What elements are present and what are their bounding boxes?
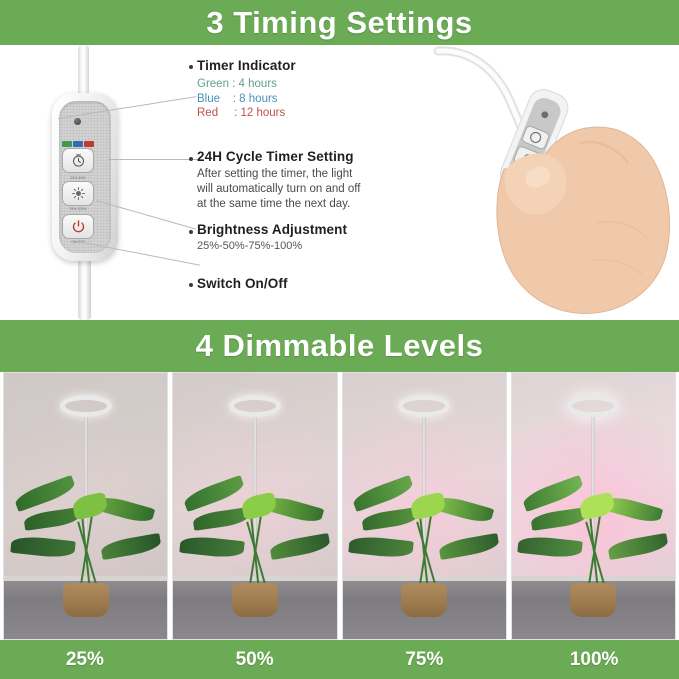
chip-red — [84, 141, 94, 147]
annotation-cycle-timer-line2: will automatically turn on and off — [197, 182, 360, 197]
power-cord-lower — [78, 253, 91, 320]
plant-photo-panel — [172, 372, 337, 640]
brightness-label-75: 75% — [340, 640, 510, 679]
brightness-button[interactable] — [62, 181, 94, 206]
hand-holding-controller-photo — [430, 43, 679, 320]
banner-dimmable-levels: 4 Dimmable Levels — [0, 320, 679, 372]
power-button[interactable] — [62, 214, 94, 239]
annotation-brightness-title: Brightness Adjustment — [197, 222, 347, 237]
ring-grow-light — [567, 395, 619, 417]
timer-indicator-chips — [62, 141, 94, 147]
annotation-brightness-sub: 25%-50%-75%-100% — [197, 239, 347, 253]
banner-timing-settings-text: 3 Timing Settings — [206, 5, 472, 41]
annotation-cycle-timer: 24H Cycle Timer Setting After setting th… — [197, 149, 360, 212]
plant-basket — [570, 583, 616, 617]
annotation-switch-title: Switch On/Off — [197, 276, 288, 291]
annotation-brightness: Brightness Adjustment 25%-50%-75%-100% — [197, 222, 347, 253]
chip-blue — [73, 141, 83, 147]
led-indicator-dot — [74, 118, 81, 125]
annotation-cycle-timer-line3: at the same time the next day. — [197, 197, 360, 212]
leader-line-cycle — [108, 159, 198, 160]
ring-grow-light — [60, 395, 112, 417]
annotation-cycle-timer-title: 24H Cycle Timer Setting — [197, 149, 360, 164]
bullet-timer — [189, 65, 193, 69]
annotation-switch: Switch On/Off — [197, 276, 288, 291]
brightness-label-top: 25%-50% — [62, 176, 94, 180]
brightness-label-25: 25% — [0, 640, 170, 679]
bullet-brightness — [189, 230, 193, 234]
annotation-timer-indicator-title: Timer Indicator — [197, 58, 296, 73]
banner-dimmable-levels-text: 4 Dimmable Levels — [196, 328, 484, 364]
ring-grow-light — [229, 395, 281, 417]
plant-basket — [232, 583, 278, 617]
plant-photo-panel — [3, 372, 168, 640]
brightness-label-50: 50% — [170, 640, 340, 679]
brightness-comparison-panels — [0, 372, 679, 640]
bullet-cycle — [189, 157, 193, 161]
plant-photo-panel — [511, 372, 676, 640]
brightness-level-labels: 25% 50% 75% 100% — [0, 640, 679, 679]
annotation-timer-indicator: Timer Indicator Green : 4 hours Blue : 8… — [197, 58, 296, 121]
power-icon — [71, 219, 86, 234]
timer-line-green: Green : 4 hours — [197, 77, 296, 92]
timer-button[interactable] — [62, 148, 94, 173]
timer-line-red: Red : 12 hours — [197, 106, 296, 121]
banner-timing-settings: 3 Timing Settings — [0, 0, 679, 45]
bullet-switch — [189, 283, 193, 287]
clock-icon — [71, 153, 86, 168]
brightness-label-bottom: 75%-100% — [62, 207, 94, 211]
chip-green — [62, 141, 72, 147]
ring-grow-light — [398, 395, 450, 417]
plant-photo-panel — [342, 372, 507, 640]
plant-basket — [401, 583, 447, 617]
plant-basket — [63, 583, 109, 617]
sun-icon — [71, 186, 86, 201]
controller-diagram: 25%-50% 75%-100% ON/OFF Timer Indicator — [0, 45, 679, 320]
brightness-label-100: 100% — [509, 640, 679, 679]
annotation-cycle-timer-line1: After setting the timer, the light — [197, 167, 360, 182]
timer-line-blue: Blue : 8 hours — [197, 92, 296, 107]
